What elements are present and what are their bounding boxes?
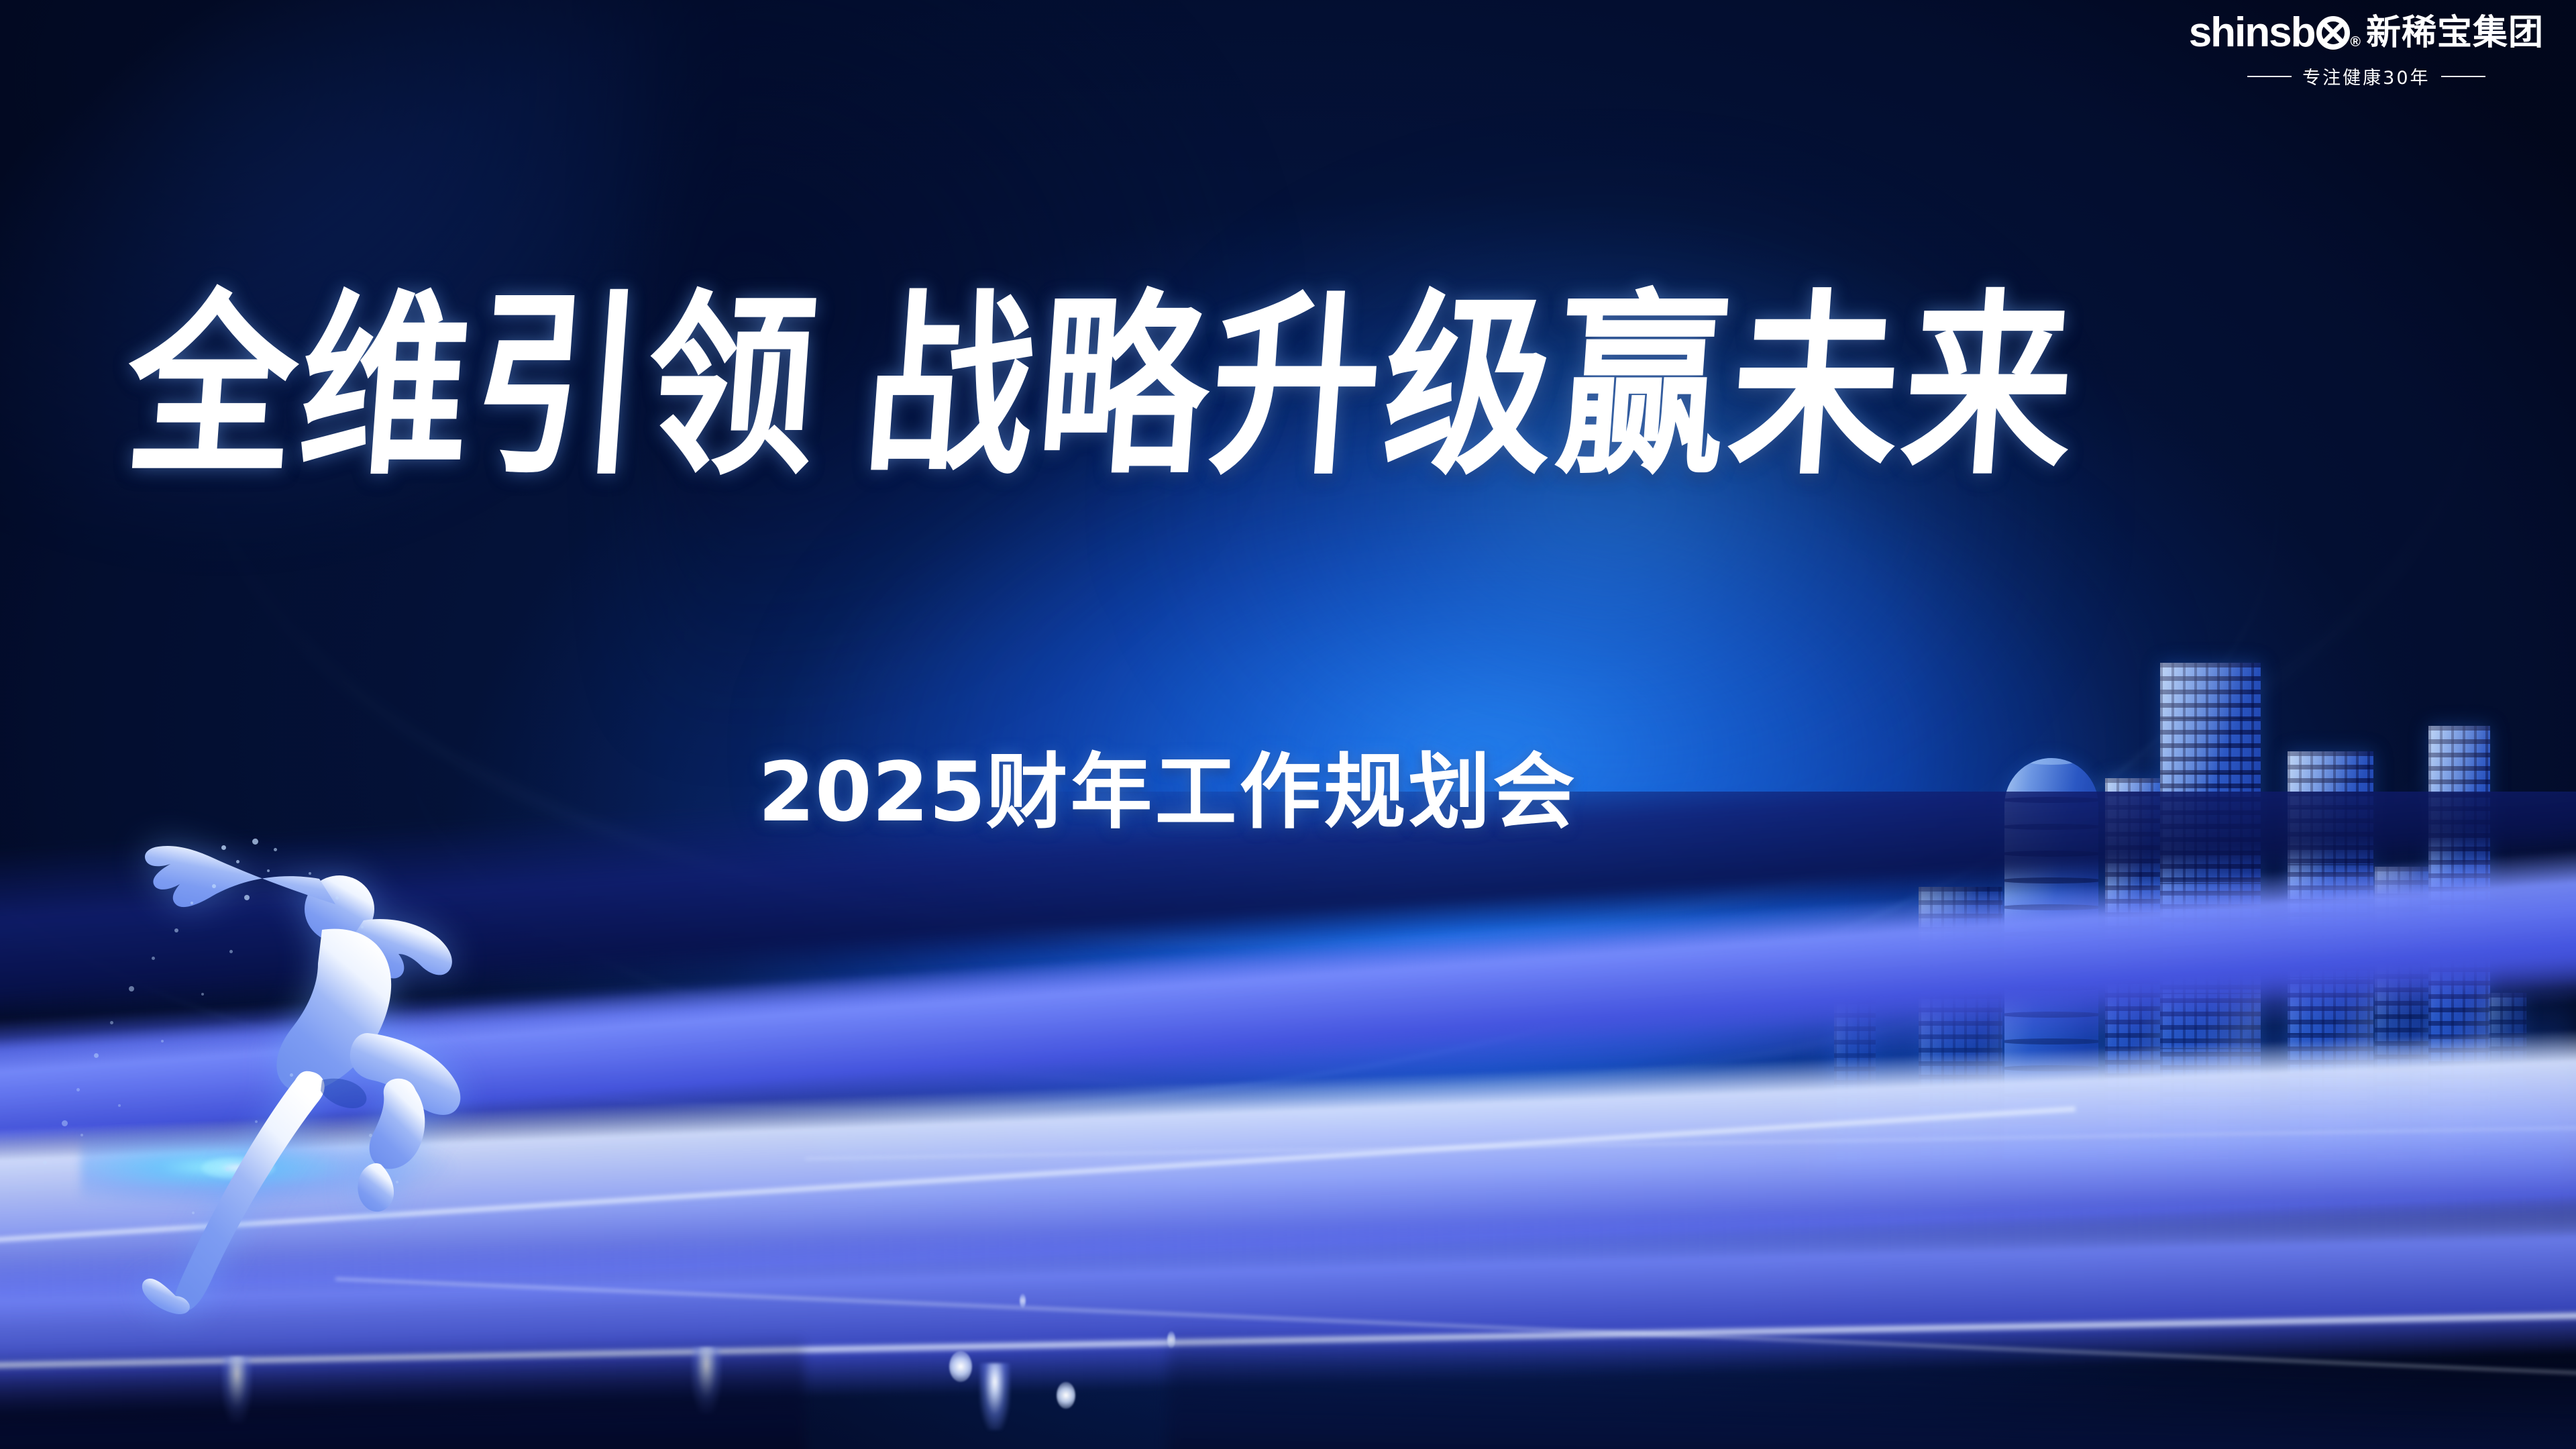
tagline-rule-left [2247, 76, 2292, 77]
poster-canvas: 全维引领 战略升级赢未来 2025财年工作规划会 shinsb® 新稀宝集团 专… [0, 0, 2576, 1449]
subtitle-year: 2025 [758, 745, 986, 840]
glow-dot-1 [949, 1351, 972, 1382]
logo-wordmark-b: b [2291, 12, 2315, 54]
glow-dot-4 [1020, 1293, 1026, 1308]
glow-lamp-3 [979, 1363, 1010, 1430]
brand-logo: shinsb® 新稀宝集团 专注健康30年 [2189, 12, 2544, 89]
subtitle-text: 财年工作规划会 [986, 745, 1578, 840]
logo-tagline: 专注健康30年 [2247, 63, 2485, 89]
glow-dot-2 [1057, 1382, 1075, 1409]
headline: 全维引领 战略升级赢未来 [121, 315, 2415, 484]
circled-x-icon [2316, 16, 2350, 50]
logo-company-name: 新稀宝集团 [2366, 15, 2544, 50]
registered-icon: ® [2351, 35, 2359, 49]
bottom-left-shadow [0, 1332, 806, 1449]
tagline-rule-right [2441, 76, 2485, 77]
logo-wordmark: shinsb® [2189, 12, 2359, 54]
subtitle: 2025财年工作规划会 [758, 751, 1578, 833]
tagline-text: 专注健康30年 [2302, 63, 2430, 89]
logo-row: shinsb® 新稀宝集团 [2189, 12, 2544, 54]
sprinter-silhouette [101, 765, 530, 1322]
logo-wordmark-a: shins [2189, 12, 2291, 54]
headline-part1: 全维引领 [121, 288, 826, 484]
headline-part2: 战略升级赢未来 [859, 288, 2084, 484]
